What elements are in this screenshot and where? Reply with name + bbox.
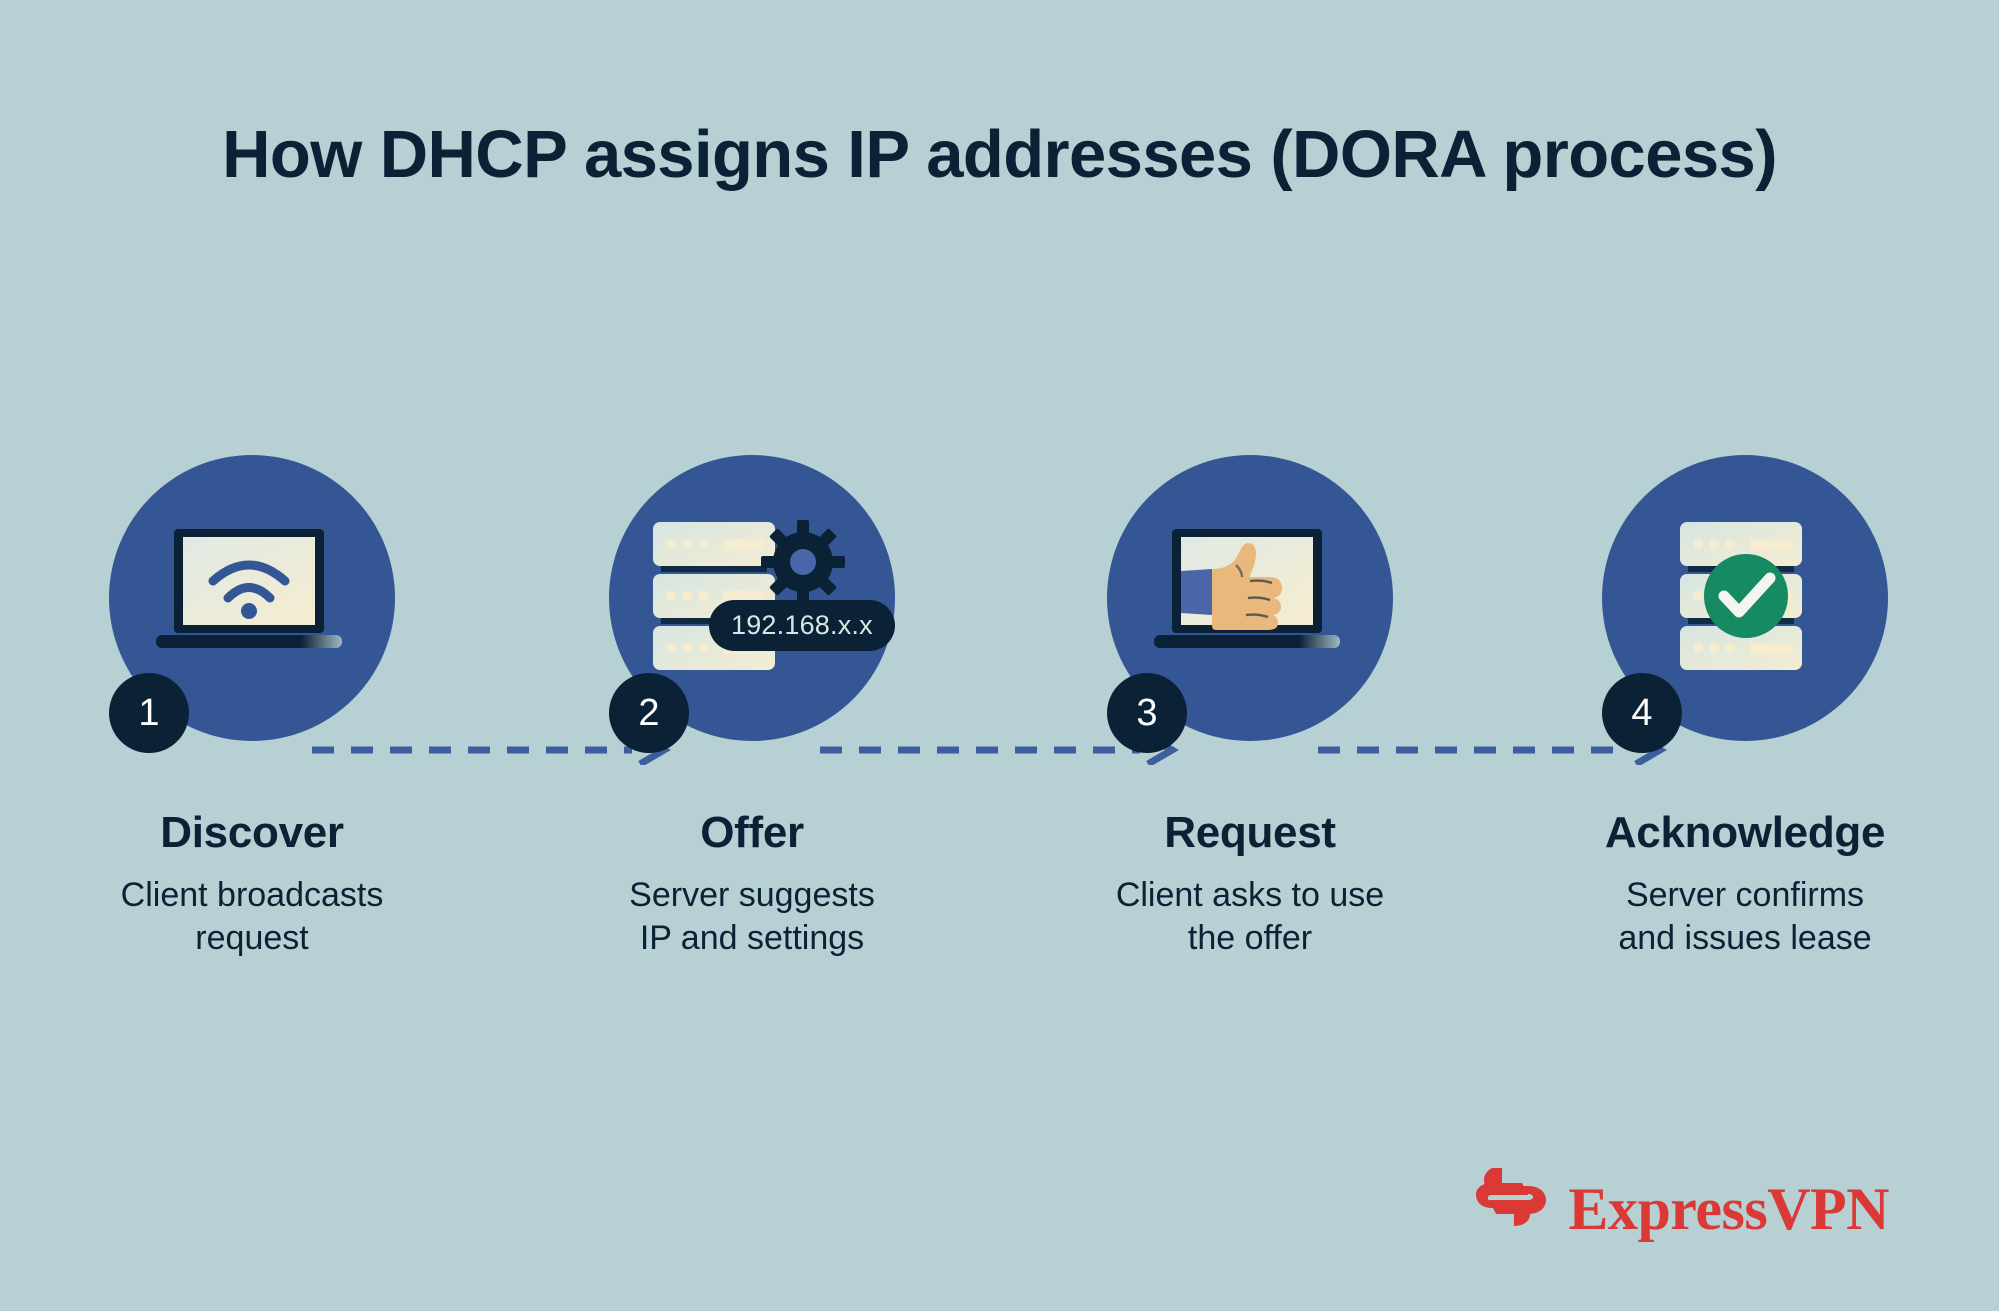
expressvpn-e-mark bbox=[1474, 1168, 1550, 1249]
step-1-label: Discover bbox=[42, 808, 462, 858]
step-2-label: Offer bbox=[542, 808, 962, 858]
step-request: 3 Request Client asks to use the offer bbox=[1040, 455, 1460, 959]
expressvpn-wordmark: ExpressVPN bbox=[1568, 1179, 1889, 1239]
step-4-label: Acknowledge bbox=[1535, 808, 1955, 858]
step-acknowledge: 4 Acknowledge Server confirms and issues… bbox=[1535, 455, 1955, 959]
ip-address-badge: 192.168.x.x bbox=[709, 600, 895, 651]
step-4-description: Server confirms and issues lease bbox=[1535, 874, 1955, 959]
step-discover: 1 Discover Client broadcasts request bbox=[42, 455, 462, 959]
infographic-page: How DHCP assigns IP addresses (DORA proc… bbox=[0, 0, 1999, 1311]
step-2-description: Server suggests IP and settings bbox=[542, 874, 962, 959]
step-1-badge: 1 bbox=[109, 673, 189, 753]
step-1-description: Client broadcasts request bbox=[42, 874, 462, 959]
ip-address-text: 192.168.x.x bbox=[731, 610, 873, 640]
page-title: How DHCP assigns IP addresses (DORA proc… bbox=[0, 118, 1999, 192]
step-2-badge: 2 bbox=[609, 673, 689, 753]
step-offer: 192.168.x.x 2 Offer Server suggests IP a… bbox=[542, 455, 962, 959]
step-3-label: Request bbox=[1040, 808, 1460, 858]
step-3-description: Client asks to use the offer bbox=[1040, 874, 1460, 959]
step-4-badge: 4 bbox=[1602, 673, 1682, 753]
laptop-thumbsup-icon bbox=[1150, 523, 1350, 673]
server-gear-icon: 192.168.x.x bbox=[647, 518, 857, 678]
step-3-badge: 3 bbox=[1107, 673, 1187, 753]
arrow-1-to-2 bbox=[312, 735, 672, 765]
laptop-wifi-icon bbox=[152, 523, 352, 673]
server-check-icon bbox=[1658, 516, 1833, 681]
expressvpn-logo: ExpressVPN bbox=[1474, 1168, 1889, 1249]
